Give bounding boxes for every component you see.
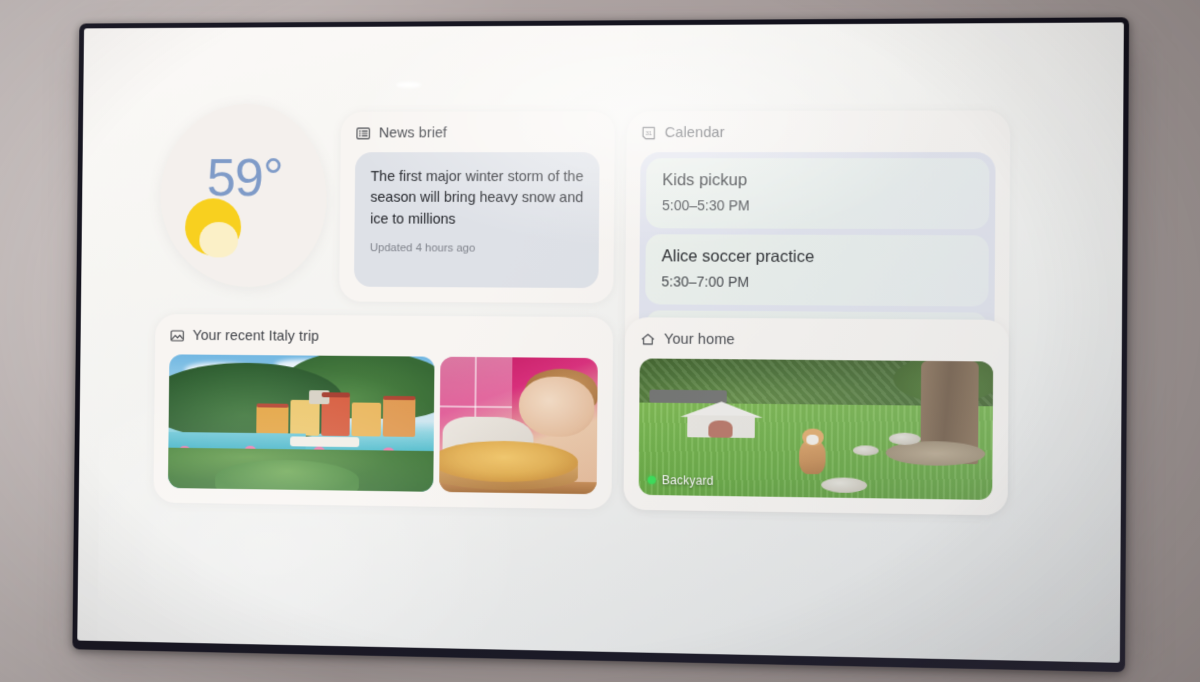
ambient-dashboard: 59° (153, 110, 1043, 548)
italy-trip-photos (168, 354, 598, 494)
tv-screen: 59° (77, 22, 1124, 662)
calendar-event-item[interactable]: Kids pickup 5:00–5:30 PM (646, 158, 990, 229)
dog (793, 428, 832, 478)
tv-bezel: 59° (72, 17, 1129, 672)
italy-trip-label: Your recent Italy trip (193, 328, 320, 345)
news-headline: The first major winter storm of the seas… (370, 167, 583, 231)
news-brief-body: The first major winter storm of the seas… (354, 152, 600, 288)
sun-cloud-overlay-icon (199, 222, 238, 258)
news-brief-label: News brief (379, 125, 447, 141)
room-scene: 59° (0, 0, 1200, 682)
weather-widget[interactable]: 59° (156, 112, 330, 302)
calendar-event-item[interactable]: Alice soccer practice 5:30–7:00 PM (645, 234, 989, 306)
news-brief-header: News brief (355, 125, 599, 141)
calendar-event-title: Alice soccer practice (662, 247, 973, 267)
photo-image-icon (169, 328, 185, 344)
italy-trip-widget[interactable]: Your recent Italy trip (153, 314, 613, 509)
home-label: Your home (664, 332, 735, 349)
calendar-31-icon: 31 (641, 125, 657, 141)
weather-temperature: 59° (207, 151, 284, 204)
doghouse (684, 401, 758, 437)
trip-photo-village[interactable] (168, 354, 435, 491)
television: 59° (72, 17, 1129, 672)
italy-trip-header: Your recent Italy trip (169, 328, 598, 347)
svg-text:31: 31 (645, 131, 652, 137)
home-camera-widget[interactable]: Your home (623, 317, 1008, 515)
calendar-event-time: 5:00–5:30 PM (662, 197, 973, 214)
calendar-event-time: 5:30–7:00 PM (661, 273, 972, 291)
trip-photo-pizza[interactable] (439, 357, 597, 495)
calendar-header: 31 Calendar (641, 125, 996, 142)
calendar-label: Calendar (665, 125, 725, 141)
live-status-dot-icon (648, 476, 656, 484)
backyard-camera-feed[interactable]: Backyard (639, 358, 994, 500)
screen-specular-highlight (396, 82, 422, 88)
house-icon (640, 331, 656, 347)
news-brief-widget[interactable]: News brief The first major winter storm … (339, 111, 615, 303)
news-article-icon (355, 126, 371, 142)
camera-status-label: Backyard (648, 473, 714, 488)
home-header: Your home (640, 331, 994, 350)
news-updated-timestamp: Updated 4 hours ago (370, 242, 583, 255)
calendar-event-title: Kids pickup (662, 171, 973, 190)
camera-name: Backyard (662, 473, 714, 488)
